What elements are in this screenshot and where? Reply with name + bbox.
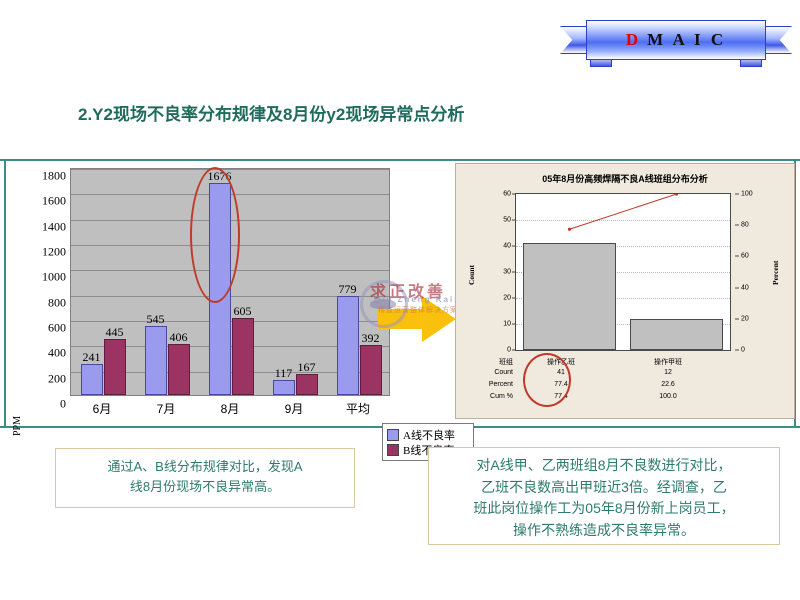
- pareto-inner: 05年8月份高频焊隔不良A线班组分布分析 Count Percent 01020…: [459, 167, 791, 415]
- callout-left: 通过A、B线分布规律对比，发现A 线8月份现场不良异常高。: [55, 448, 355, 508]
- callout-left-line-1: 通过A、B线分布规律对比，发现A: [66, 457, 344, 477]
- banner-ribbon: DM A I C: [586, 20, 766, 60]
- bar-chart-bar: [232, 318, 254, 395]
- bar-chart-bar: [337, 296, 359, 395]
- pareto-percent-tick: 40: [741, 284, 749, 291]
- pareto-percent-tickmark: [735, 318, 739, 319]
- bar-chart-x-tick: 9月: [285, 400, 304, 417]
- callout-right-line-2: 乙班不良数高出甲班近3倍。经调查，乙: [437, 477, 771, 499]
- bar-chart-y-axis-label: PPM: [12, 416, 23, 436]
- pareto-percent-tick: 80: [741, 222, 749, 229]
- legend-swatch-b-icon: [387, 444, 399, 456]
- pareto-percent-tick: 0: [741, 347, 745, 354]
- bar-chart-value-label: 605: [234, 304, 252, 319]
- pareto-percent-axis-label: Percent: [771, 261, 780, 285]
- pareto-cumulative-line: [516, 194, 730, 350]
- bar-chart-bar: [273, 380, 295, 395]
- bar-chart-x-tick: 6月: [93, 400, 112, 417]
- pareto-data-table: 班组操作乙班操作甲班Count4112Percent77.422.6Cum %7…: [463, 357, 763, 409]
- pareto-table-cell: 22.6: [628, 381, 708, 388]
- arrow-head: [422, 296, 456, 342]
- pareto-percent-tick: 100: [741, 191, 753, 198]
- pareto-table-row-label: Count: [463, 369, 513, 376]
- highlight-ellipse: [190, 167, 240, 303]
- bar-chart-bar: [296, 374, 318, 395]
- band-rule-left: [4, 161, 6, 426]
- legend-swatch-a-icon: [387, 429, 399, 441]
- bar-chart-value-label: 445: [106, 325, 124, 340]
- bar-chart-bar: [81, 364, 103, 395]
- pareto-y-tick: 40: [503, 243, 511, 250]
- bar-chart-x-tick: 8月: [221, 400, 240, 417]
- bar-chart-bar: [168, 344, 190, 395]
- bar-chart-y-tick: 800: [24, 295, 66, 310]
- pareto-y-tick: 10: [503, 321, 511, 328]
- pareto-table-cell: 操作甲班: [628, 357, 708, 367]
- pareto-percent-tickmark: [735, 256, 739, 257]
- bar-chart-value-label: 241: [83, 350, 101, 365]
- bar-chart-x-tick: 平均: [346, 400, 370, 417]
- callout-right-line-1: 对A线甲、乙两班组8月不良数进行对比，: [437, 455, 771, 477]
- bar-chart-y-tick: 1600: [24, 194, 66, 209]
- pareto-percent-tickmark: [735, 350, 739, 351]
- bar-chart-bar: [360, 345, 382, 395]
- bar-chart-x-labels: 6月7月8月9月平均: [70, 400, 390, 420]
- bar-chart-value-label: 779: [339, 282, 357, 297]
- callout-right: 对A线甲、乙两班组8月不良数进行对比， 乙班不良数高出甲班近3倍。经调查，乙 班…: [428, 447, 780, 545]
- bar-chart-value-label: 406: [170, 330, 188, 345]
- legend-label-a: A线不良率: [403, 427, 455, 443]
- bar-chart-bar: [104, 339, 126, 395]
- callout-left-line-2: 线8月份现场不良异常高。: [66, 477, 344, 497]
- pareto-y-tick: 50: [503, 217, 511, 224]
- pareto-table-row-label: Cum %: [463, 393, 513, 400]
- bar-chart-y-tick: 600: [24, 321, 66, 336]
- bar-chart-bar: [145, 326, 167, 395]
- legend-item-a: A线不良率: [387, 427, 469, 442]
- pareto-chart: 05年8月份高频焊隔不良A线班组分布分析 Count Percent 01020…: [455, 163, 795, 419]
- bar-chart-y-tick: 200: [24, 371, 66, 386]
- page-title: 2.Y2现场不良率分布规律及8月份y2现场异常点分析: [78, 100, 464, 125]
- pareto-table-cell: 100.0: [628, 393, 708, 400]
- arrow-shaft: [378, 309, 426, 329]
- pareto-table-row-label: Percent: [463, 381, 513, 388]
- bar-chart-value-label: 545: [147, 312, 165, 327]
- pareto-percent-tickmark: [735, 225, 739, 226]
- pareto-title: 05年8月份高频焊隔不良A线班组分布分析: [459, 172, 791, 185]
- bar-chart-y-tick: 1800: [24, 169, 66, 184]
- pareto-table-cell: 12: [628, 369, 708, 376]
- callout-right-line-3: 班此岗位操作工为05年8月份新上岗员工，: [437, 498, 771, 520]
- pareto-y-tick: 0: [507, 347, 511, 354]
- pareto-percent-tick: 20: [741, 315, 749, 322]
- pareto-y-axis-label: Count: [467, 265, 476, 285]
- pareto-plot-area: [515, 193, 731, 351]
- bar-chart-y-tick: 1400: [24, 219, 66, 234]
- bar-chart-y-tick: 0: [24, 397, 66, 412]
- pareto-percent-tickmark: [735, 194, 739, 195]
- yellow-arrow-icon: [378, 296, 456, 342]
- dmaic-banner: DM A I C: [560, 14, 792, 66]
- bar-chart-x-tick: 7月: [157, 400, 176, 417]
- pareto-table-row-label: 班组: [463, 357, 513, 367]
- banner-text-d: D: [626, 30, 641, 49]
- banner-text-rest: M A I C: [647, 30, 726, 49]
- bar-chart-value-label: 167: [298, 360, 316, 375]
- pareto-highlight-ellipse: [523, 353, 571, 407]
- bar-chart-y-tick: 1200: [24, 245, 66, 260]
- slide-canvas: DM A I C 2.Y2现场不良率分布规律及8月份y2现场异常点分析 PPM …: [0, 0, 800, 600]
- callout-right-line-4: 操作不熟练造成不良率异常。: [437, 520, 771, 542]
- pareto-y-tick: 60: [503, 191, 511, 198]
- bar-chart-value-label: 117: [275, 366, 293, 381]
- bar-chart-value-label: 392: [362, 331, 380, 346]
- bar-chart-y-tick: 400: [24, 346, 66, 361]
- pareto-y-tick: 20: [503, 295, 511, 302]
- bar-chart-plot-area: 2414455454061676605117167779392: [70, 168, 390, 396]
- pareto-percent-tickmark: [735, 287, 739, 288]
- pareto-y-ticks: 0102030405060: [489, 193, 511, 351]
- pareto-percent-tick: 60: [741, 253, 749, 260]
- pareto-percent-ticks: 020406080100: [735, 193, 761, 351]
- ppm-bar-chart: PPM 020040060080010001200140016001800 24…: [10, 160, 450, 422]
- banner-text: DM A I C: [626, 30, 726, 50]
- bar-chart-y-ticks: 020040060080010001200140016001800: [24, 168, 66, 396]
- bar-chart-y-tick: 1000: [24, 270, 66, 285]
- pareto-y-tick: 30: [503, 269, 511, 276]
